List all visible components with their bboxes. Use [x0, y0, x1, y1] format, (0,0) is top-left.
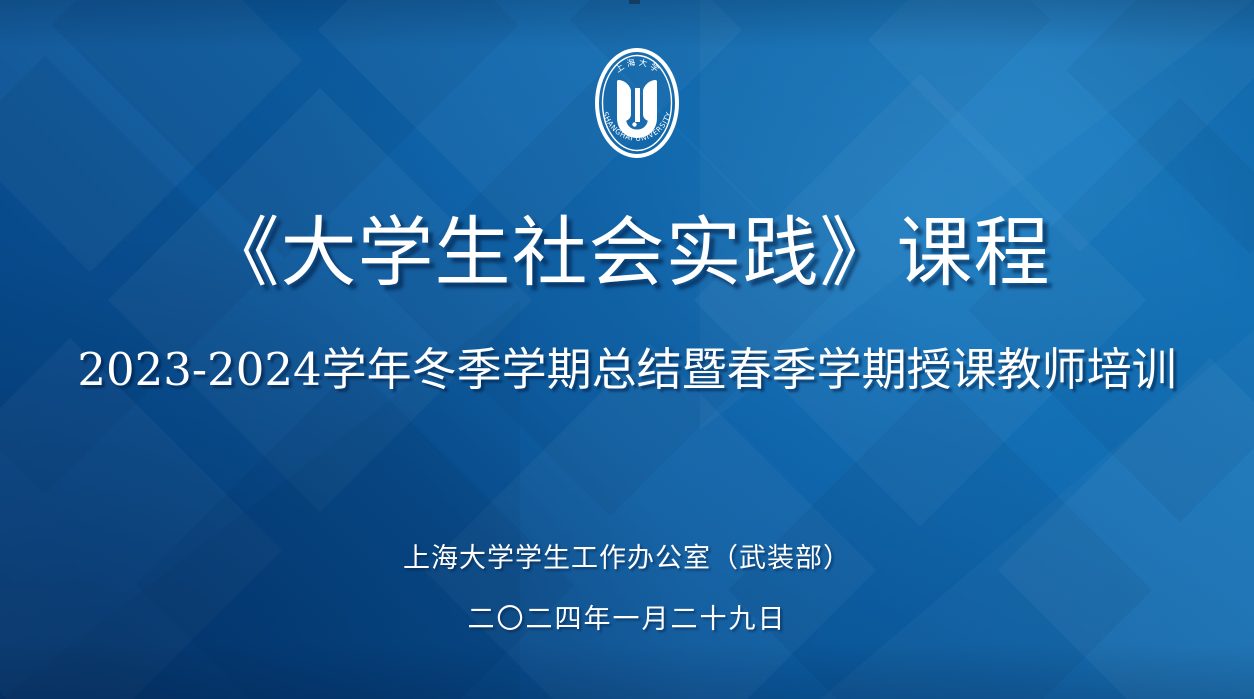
organization-name: 上海大学学生工作办公室（武装部）: [0, 536, 1254, 575]
shanghai-university-logo: 上 海 大 学 SHANGHAI UNIVERSITY: [591, 44, 683, 162]
svg-text:上 海 大 学: 上 海 大 学: [614, 57, 662, 75]
facet-diamond: [998, 358, 1254, 699]
facet-diamond: [968, 98, 1254, 522]
presentation-date: 二〇二四年一月二十九日: [0, 597, 1254, 636]
top-edge-artifact: [629, 0, 640, 4]
facet-diamond: [694, 74, 1147, 527]
facet-diamond: [108, 88, 532, 512]
facet-diamond: [424, 344, 877, 699]
title-slide: 上 海 大 学 SHANGHAI UNIVERSITY 《大学生社会实践》课程 …: [0, 0, 1254, 699]
page-title: 《大学生社会实践》课程: [0, 214, 1254, 292]
facet-diamond: [136, 366, 574, 699]
page-subtitle: 2023-2024学年冬季学期总结暨春季学期授课教师培训: [0, 346, 1254, 393]
